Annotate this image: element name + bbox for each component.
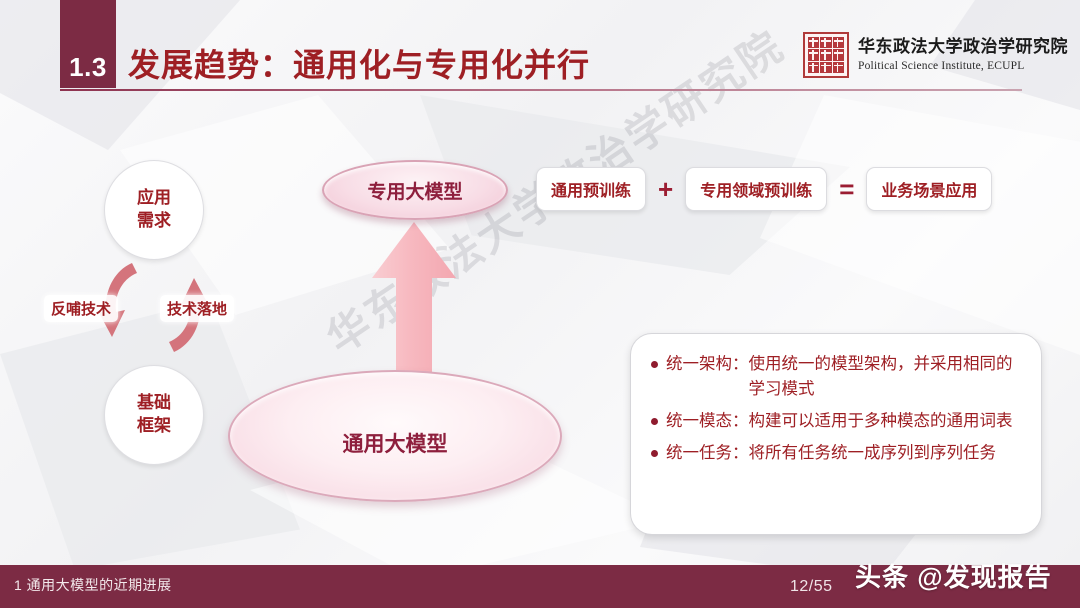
bullet-term: 统一模态： bbox=[666, 409, 749, 434]
bullet-term: 统一架构： bbox=[666, 352, 749, 377]
title-underline bbox=[60, 89, 1022, 91]
institute-logo: 华东政法大学政治学研究院 Political Science Institute… bbox=[803, 32, 1068, 78]
equation-operator-plus: + bbox=[656, 176, 675, 202]
equation-operator-equals: = bbox=[837, 176, 856, 202]
bullet-desc: 构建可以适用于多种模态的通用词表 bbox=[749, 409, 1020, 434]
equation-term-general-pretrain: 通用预训练 bbox=[536, 167, 646, 211]
cycle-label-feedback: 反哺技术 bbox=[44, 295, 118, 322]
ellipse-specialized-model: 专用大模型 bbox=[322, 160, 508, 220]
cycle-circle-demand-line2: 需求 bbox=[137, 210, 171, 233]
ellipse-general-model: 通用大模型 bbox=[228, 370, 562, 502]
bullet-dot-icon bbox=[651, 361, 658, 368]
ellipse-general-model-label: 通用大模型 bbox=[343, 428, 448, 458]
footer-page-number: 12/55 bbox=[790, 578, 833, 596]
cycle-circle-demand: 应用 需求 bbox=[104, 160, 204, 260]
footer-section-label: 1 通用大模型的近期进展 bbox=[14, 575, 172, 595]
bullet-dot-icon bbox=[651, 418, 658, 425]
footer-watermark: 头条 @发现报告 bbox=[855, 557, 1052, 594]
section-number-tab: 1.3 bbox=[60, 0, 116, 88]
bullet-card: 统一架构： 使用统一的模型架构，并采用相同的学习模式 统一模态： 构建可以适用于… bbox=[630, 333, 1042, 535]
slide-canvas: 华东政法大学政治学研究院 1.3 发展趋势：通用化与专用化并行 华东政法大学政治… bbox=[0, 0, 1080, 608]
ellipse-specialized-model-label: 专用大模型 bbox=[367, 177, 462, 204]
equation-term-business-application: 业务场景应用 bbox=[866, 167, 992, 211]
list-item: 统一架构： 使用统一的模型架构，并采用相同的学习模式 bbox=[651, 352, 1019, 402]
cycle-circle-foundation-line1: 基础 bbox=[137, 392, 171, 415]
equation-term-domain-pretrain: 专用领域预训练 bbox=[685, 167, 827, 211]
list-item: 统一模态： 构建可以适用于多种模态的通用词表 bbox=[651, 409, 1019, 434]
list-item: 统一任务： 将所有任务统一成序列到序列任务 bbox=[651, 441, 1019, 466]
logo-text-en: Political Science Institute, ECUPL bbox=[858, 60, 1068, 73]
seal-icon bbox=[803, 32, 849, 78]
logo-text-cn: 华东政法大学政治学研究院 bbox=[858, 38, 1068, 57]
equation-row: 通用预训练 + 专用领域预训练 = 业务场景应用 bbox=[536, 167, 992, 211]
cycle-circle-demand-line1: 应用 bbox=[137, 187, 171, 210]
section-number-label: 1.3 bbox=[69, 54, 107, 80]
cycle-circle-foundation: 基础 框架 bbox=[104, 365, 204, 465]
cycle-label-landing: 技术落地 bbox=[160, 295, 234, 322]
bullet-desc: 使用统一的模型架构，并采用相同的学习模式 bbox=[749, 352, 1020, 402]
page-title: 发展趋势：通用化与专用化并行 bbox=[128, 40, 590, 86]
cycle-circle-foundation-line2: 框架 bbox=[137, 415, 171, 438]
bullet-dot-icon bbox=[651, 450, 658, 457]
bullet-term: 统一任务： bbox=[666, 441, 749, 466]
bullet-desc: 将所有任务统一成序列到序列任务 bbox=[749, 441, 1020, 466]
